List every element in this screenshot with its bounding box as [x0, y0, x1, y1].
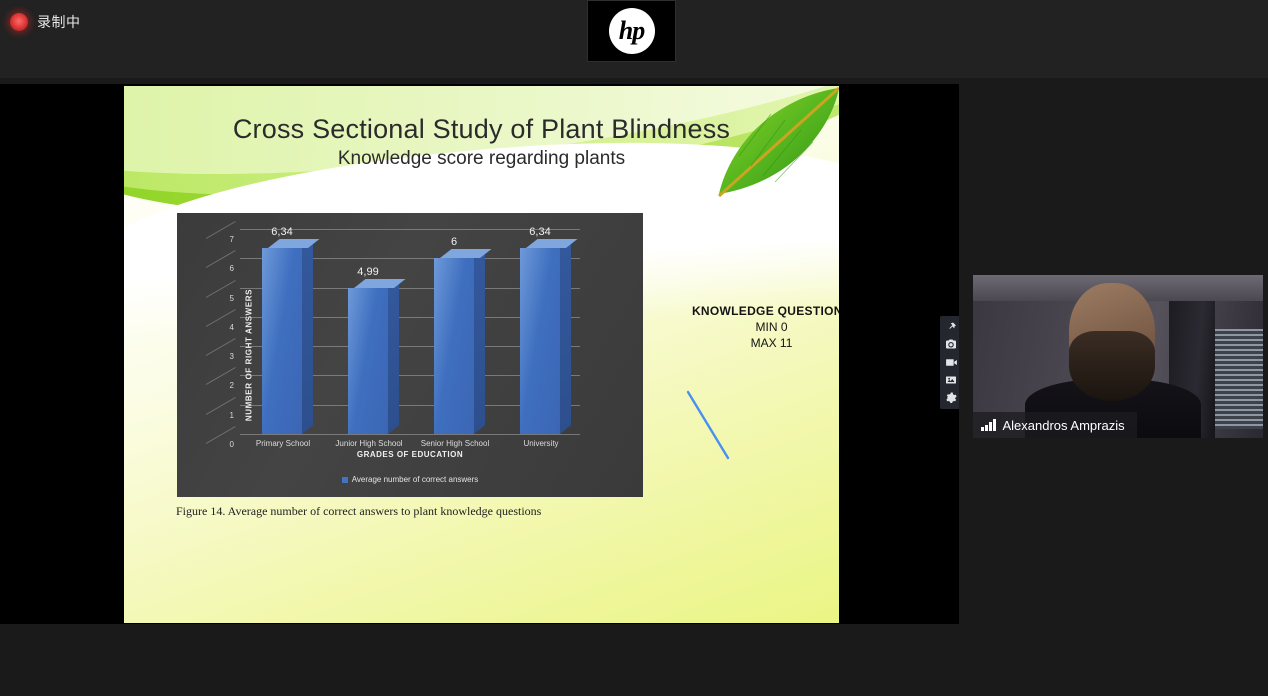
chart-bar-value-label: 6,34	[252, 226, 312, 238]
pin-icon[interactable]	[942, 319, 959, 333]
record-dot-icon	[10, 13, 28, 31]
chart-bar-front	[520, 248, 560, 434]
presentation-slide: Cross Sectional Study of Plant Blindness…	[124, 86, 839, 623]
recording-label: 录制中	[37, 12, 81, 32]
chart-bar-front	[262, 248, 302, 434]
participant-name: Alexandros Amprazis	[1003, 418, 1125, 433]
chart-bar-side	[302, 239, 313, 434]
chart-bar-side	[474, 249, 485, 434]
gear-icon[interactable]	[942, 391, 959, 405]
chart-y-tick-label: 6	[204, 264, 234, 273]
knowledge-box-heading: KNOWLEDGE QUESTIONS	[664, 304, 839, 318]
chart-gridline	[240, 434, 580, 435]
chart-bar-value-label: 4,99	[338, 266, 398, 278]
chart-plot-area: 76543210 6,344,9966,34	[240, 229, 580, 434]
recording-bar: 录制中 hp	[0, 0, 1268, 78]
hp-brand-badge: hp	[587, 0, 676, 62]
chart-x-axis-title: GRADES OF EDUCATION	[177, 450, 643, 459]
chart-bar	[348, 288, 399, 434]
chart-bar-value-label: 6,34	[510, 226, 570, 238]
chart-bar-value-label: 6	[424, 236, 484, 248]
knowledge-questions-box: KNOWLEDGE QUESTIONS MIN 0 MAX 11	[664, 304, 839, 350]
chart-bar	[520, 248, 571, 434]
chart-y-tick-label: 3	[204, 352, 234, 361]
chart-bar	[434, 258, 485, 434]
hp-logo-icon: hp	[609, 8, 655, 54]
chart-legend: Average number of correct answers	[177, 475, 643, 484]
webcam-window-blinds	[1211, 329, 1263, 429]
slide-subtitle: Knowledge score regarding plants	[124, 148, 839, 170]
annotation-stroke-icon	[684, 386, 744, 466]
chart-category-label: University	[486, 439, 596, 448]
participant-name-plate: Alexandros Amprazis	[973, 412, 1137, 438]
chart-bar-front	[434, 258, 474, 434]
shared-screen-region: Cross Sectional Study of Plant Blindness…	[0, 84, 959, 624]
video-camera-icon[interactable]	[942, 355, 959, 369]
camera-icon[interactable]	[942, 337, 959, 351]
screen-share-toolbar[interactable]	[940, 316, 959, 409]
chart-bar-side	[560, 239, 571, 434]
chart-bar	[262, 248, 313, 434]
chart-bar-front	[348, 288, 388, 434]
chart-y-tick-label: 7	[204, 235, 234, 244]
gallery-icon[interactable]	[942, 373, 959, 387]
chart-y-tick-label: 4	[204, 323, 234, 332]
knowledge-box-max: MAX 11	[664, 336, 839, 350]
figure-caption: Figure 14. Average number of correct ans…	[176, 504, 541, 519]
chart-y-tick-label: 1	[204, 411, 234, 420]
recording-indicator: 录制中	[10, 12, 81, 32]
webcam-person-beard	[1069, 331, 1155, 401]
leaf-icon	[689, 86, 839, 206]
chart-y-tick-label: 2	[204, 381, 234, 390]
chart-y-tick-label: 5	[204, 294, 234, 303]
bar-chart: NUMBER OF RIGHT ANSWERS 76543210 6,344,9…	[177, 213, 643, 497]
legend-swatch-icon	[342, 477, 348, 483]
signal-bars-icon	[981, 419, 996, 431]
webcam-tile[interactable]: Alexandros Amprazis	[973, 275, 1263, 438]
legend-label: Average number of correct answers	[352, 475, 479, 484]
slide-title: Cross Sectional Study of Plant Blindness	[124, 114, 839, 145]
knowledge-box-min: MIN 0	[664, 320, 839, 334]
chart-bar-side	[388, 279, 399, 434]
